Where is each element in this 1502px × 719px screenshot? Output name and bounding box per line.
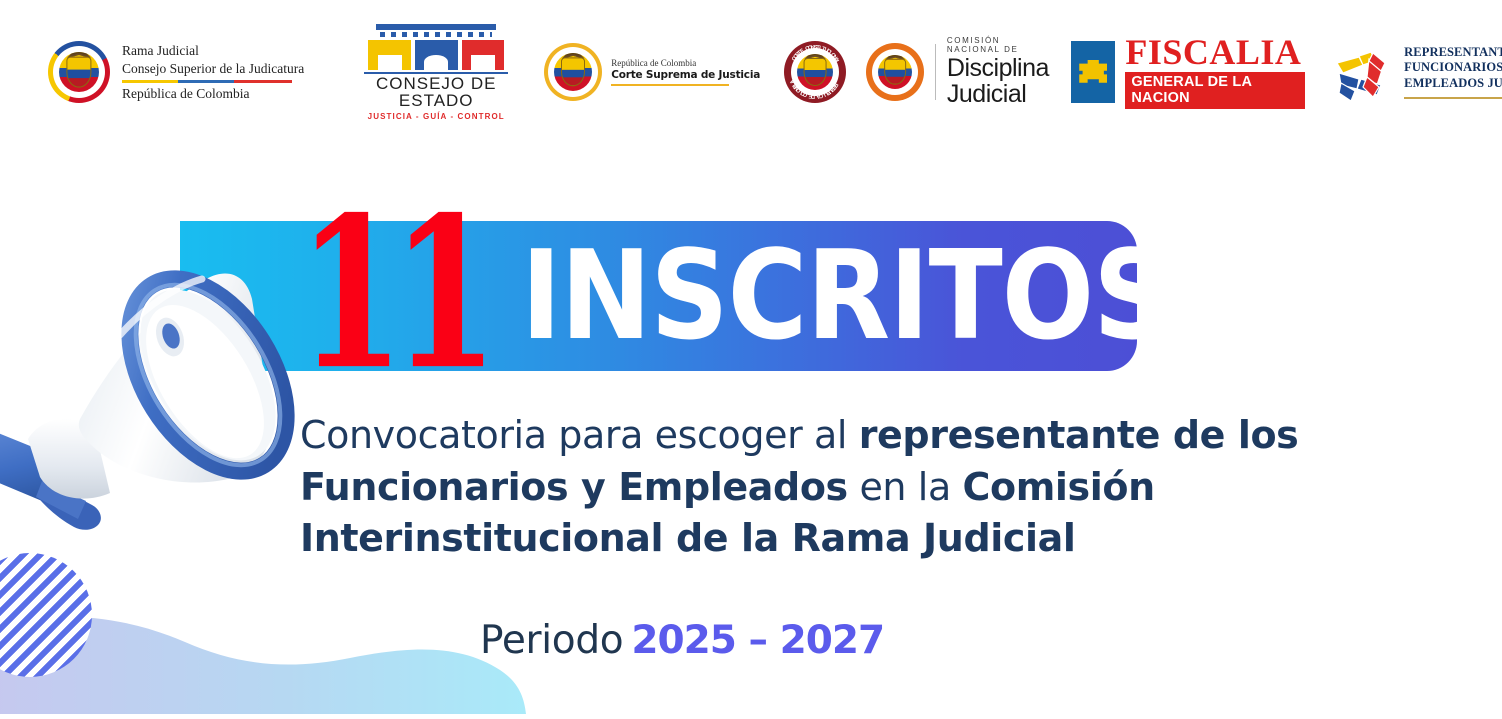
logo-rama-judicial-text: Rama Judicial Consejo Superior de la Jud… — [122, 42, 304, 102]
tricolor-divider — [122, 80, 292, 83]
logo-representante-line1: REPRESENTANTE DE — [1404, 45, 1502, 60]
logo-corte-suprema-de-justicia: República de Colombia Corte Suprema de J… — [544, 22, 760, 122]
logo-fiscalia-line1: FISCALIA — [1125, 35, 1305, 69]
seal-ring-text: REPUBLICA DE COLOMBIA — [784, 41, 846, 103]
inscritos-banner: 11 INSCRITOS — [180, 221, 1137, 371]
period-label: Periodo — [480, 618, 623, 663]
logo-representante-line3: EMPLEADOS JUDICIALES — [1404, 76, 1502, 91]
disciplina-judicial-seal-icon — [866, 43, 924, 101]
logo-consejo-de-estado-subtitle: JUSTICIA - GUÍA - CONTROL — [362, 112, 510, 121]
period-line: Periodo2025 – 2027 — [480, 618, 884, 663]
logo-disciplina-line3: Judicial — [947, 81, 1049, 107]
logo-corte-suprema-line2: Corte Suprema de Justicia — [611, 69, 760, 81]
logo-rama-judicial-line3: República de Colombia — [122, 86, 304, 102]
headline-part2: en la — [848, 465, 963, 509]
logo-corte-constitucional: CORTE CONSTITUCIONALREPUBLICA DE COLOMBI… — [784, 22, 846, 122]
gold-divider — [611, 84, 729, 86]
classical-building-icon — [362, 24, 510, 70]
inscritos-label: INSCRITOS — [521, 234, 1170, 357]
logo-consejo-de-estado: CONSEJO DE ESTADO JUSTICIA - GUÍA - CONT… — [362, 22, 510, 122]
inscritos-count: 11 — [298, 190, 486, 398]
logo-corte-suprema-line1: República de Colombia — [611, 58, 760, 68]
logo-comision-nacional-disciplina-judicial: COMISIÓN NACIONAL DE Disciplina Judicial — [866, 22, 1049, 122]
institutional-logo-bar: Rama Judicial Consejo Superior de la Jud… — [0, 22, 1502, 122]
megaphone-illustration — [0, 175, 300, 535]
logo-consejo-de-estado-title: CONSEJO DE ESTADO — [362, 75, 510, 109]
logo-fiscalia-line2: GENERAL DE LA NACION — [1125, 72, 1305, 109]
logo-rama-judicial-line1: Rama Judicial — [122, 42, 304, 59]
page-headline: Convocatoria para escoger al representan… — [300, 410, 1450, 565]
logo-representante-line2: FUNCIONARIOS Y — [1404, 60, 1502, 75]
colombia-coat-of-arms-icon — [544, 43, 602, 101]
period-value: 2025 – 2027 — [631, 618, 884, 663]
four-hands-icon — [1329, 39, 1393, 105]
logo-rama-judicial-line2: Consejo Superior de la Judicatura — [122, 60, 304, 77]
logo-representante-funcionarios-empleados: REPRESENTANTE DE FUNCIONARIOS Y EMPLEADO… — [1329, 22, 1502, 122]
corte-constitucional-seal-icon: CORTE CONSTITUCIONALREPUBLICA DE COLOMBI… — [784, 41, 846, 103]
logo-fiscalia-general-de-la-nacion: FISCALIA GENERAL DE LA NACION — [1071, 22, 1305, 122]
vertical-divider — [935, 44, 936, 100]
colombia-coat-of-arms-icon — [48, 41, 110, 103]
headline-part1: Convocatoria para escoger al — [300, 413, 859, 457]
logo-rama-judicial: Rama Judicial Consejo Superior de la Jud… — [0, 22, 304, 122]
logo-disciplina-line2: Disciplina — [947, 56, 1049, 81]
gold-divider — [1404, 97, 1502, 99]
logo-disciplina-line1: COMISIÓN NACIONAL DE — [947, 36, 1049, 54]
puzzle-piece-icon — [1071, 41, 1115, 103]
